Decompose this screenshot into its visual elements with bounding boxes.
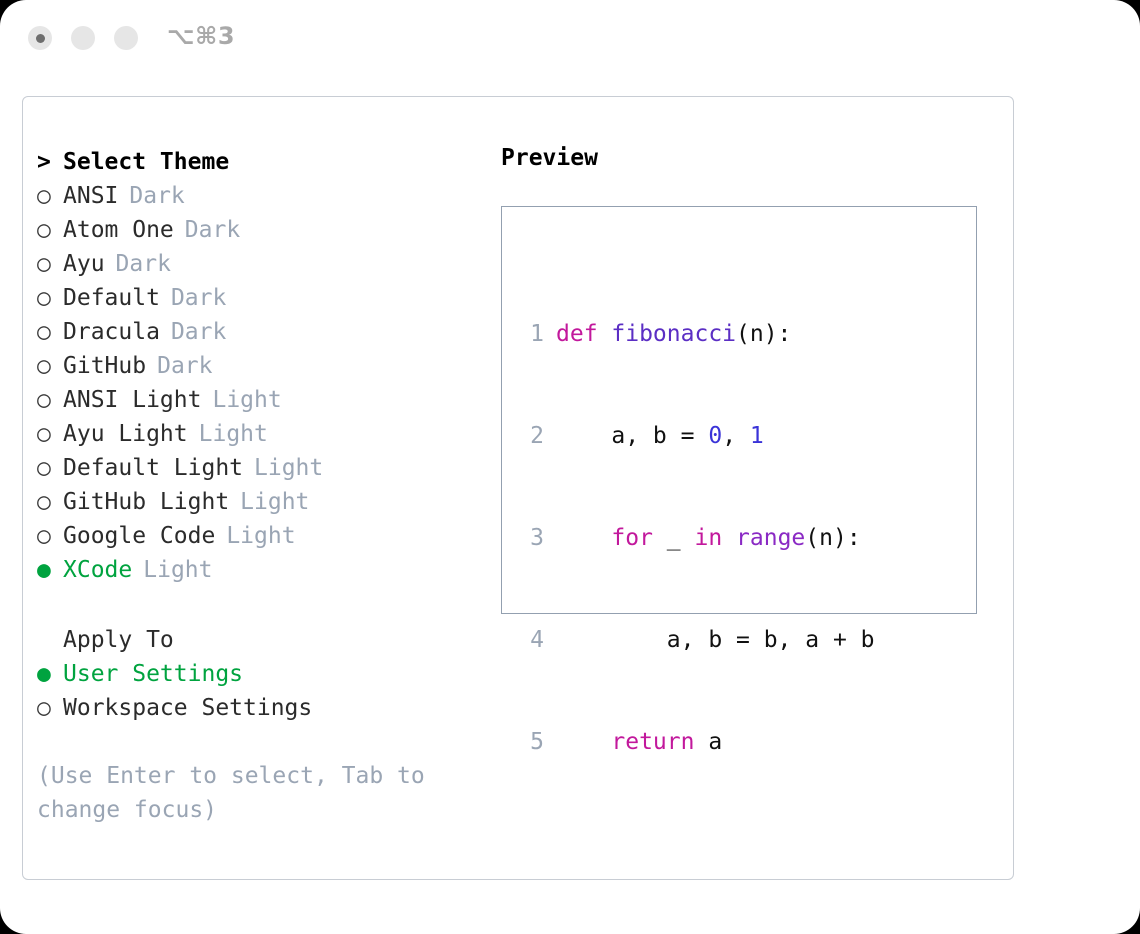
theme-item-atom-one-dark[interactable]: ○ Atom One Dark (37, 213, 487, 247)
theme-tag: Light (143, 557, 212, 583)
line-number: 5 (518, 725, 544, 759)
code-token: 0 (708, 423, 722, 449)
keyboard-hint-text: (Use Enter to select, Tab to change focu… (37, 759, 447, 827)
code-token: return (611, 729, 694, 755)
radio-icon[interactable]: ○ (37, 183, 63, 209)
theme-tag: Dark (185, 217, 240, 243)
theme-item-default-dark[interactable]: ○ Default Dark (37, 281, 487, 315)
keyboard-shortcut-label: ⌥⌘3 (167, 22, 235, 50)
radio-icon[interactable]: ○ (37, 523, 63, 549)
theme-tag: Light (240, 489, 309, 515)
code-line: 5 return a (518, 725, 902, 759)
apply-to-label: Apply To (63, 627, 174, 653)
code-token: for (611, 525, 653, 551)
code-token: (n): (736, 321, 791, 347)
line-number: 4 (518, 623, 544, 657)
theme-name: GitHub (63, 353, 146, 379)
line-number: 1 (518, 317, 544, 351)
apply-to-option-label: Workspace Settings (63, 695, 312, 721)
theme-name: Dracula (63, 319, 160, 345)
code-token: 1 (750, 423, 764, 449)
theme-item-google-code[interactable]: ○ Google Code Light (37, 519, 487, 553)
hint-spacer (37, 725, 487, 759)
code-token: def (556, 321, 611, 347)
code-token: a, b = (556, 423, 708, 449)
code-token: _ (653, 525, 695, 551)
code-line: 3 for _ in range(n): (518, 521, 902, 555)
apply-to-option-label: User Settings (63, 661, 243, 687)
theme-item-ansi-dark[interactable]: ○ ANSI Dark (37, 179, 487, 213)
list-spacer (37, 587, 487, 623)
theme-tag: Light (254, 455, 323, 481)
code-token: fibonacci (611, 321, 736, 347)
theme-tag: Light (226, 523, 295, 549)
apply-to-workspace-settings[interactable]: ○ Workspace Settings (37, 691, 487, 725)
theme-name: Ayu Light (63, 421, 188, 447)
app-window: ⌥⌘3 > Select Theme ○ ANSI Dark ○ Atom On… (0, 0, 1140, 934)
preview-title: Preview (501, 145, 1001, 171)
theme-name: Default Light (63, 455, 243, 481)
main-panel: > Select Theme ○ ANSI Dark ○ Atom One Da… (22, 96, 1014, 880)
select-theme-heading: > Select Theme (37, 145, 487, 179)
code-line: 1def fibonacci(n): (518, 317, 902, 351)
line-number: 3 (518, 521, 544, 555)
radio-icon[interactable]: ○ (37, 387, 63, 413)
window-dot-inner (36, 34, 45, 43)
radio-icon[interactable]: ○ (37, 251, 63, 277)
theme-item-ayu-dark[interactable]: ○ Ayu Dark (37, 247, 487, 281)
radio-icon[interactable]: ○ (37, 455, 63, 481)
preview-column: Preview 1def fibonacci(n): 2 a, b = 0, 1… (501, 145, 1001, 614)
radio-icon[interactable]: ○ (37, 489, 63, 515)
window-controls (28, 26, 138, 50)
theme-item-ayu-light[interactable]: ○ Ayu Light Light (37, 417, 487, 451)
code-token: a, b = b, a + b (556, 627, 875, 653)
theme-item-github-dark[interactable]: ○ GitHub Dark (37, 349, 487, 383)
code-token: a (694, 729, 722, 755)
select-theme-label: Select Theme (63, 149, 229, 175)
apply-to-heading: Apply To (37, 623, 487, 657)
theme-name: ANSI (63, 183, 118, 209)
theme-tag: Dark (116, 251, 171, 277)
code-token: , (722, 423, 750, 449)
window-dot-third-icon[interactable] (114, 26, 138, 50)
theme-tag: Dark (129, 183, 184, 209)
code-token: in (694, 525, 722, 551)
code-token (722, 525, 736, 551)
radio-selected-icon[interactable]: ● (37, 661, 63, 687)
preview-box: 1def fibonacci(n): 2 a, b = 0, 1 3 for _… (501, 206, 977, 614)
theme-name: ANSI Light (63, 387, 201, 413)
theme-tag: Light (212, 387, 281, 413)
theme-item-xcode-light[interactable]: ● XCode Light (37, 553, 487, 587)
radio-icon[interactable]: ○ (37, 353, 63, 379)
code-sample: 1def fibonacci(n): 2 a, b = 0, 1 3 for _… (518, 249, 902, 934)
code-token (556, 525, 611, 551)
caret-icon: > (37, 149, 63, 175)
theme-tag: Dark (157, 353, 212, 379)
theme-item-ansi-light[interactable]: ○ ANSI Light Light (37, 383, 487, 417)
theme-item-github-light[interactable]: ○ GitHub Light Light (37, 485, 487, 519)
theme-item-dracula-dark[interactable]: ○ Dracula Dark (37, 315, 487, 349)
code-token: range (736, 525, 805, 551)
code-line: 2 a, b = 0, 1 (518, 419, 902, 453)
theme-name: Atom One (63, 217, 174, 243)
window-dot-active-icon[interactable] (28, 26, 52, 50)
radio-icon[interactable]: ○ (37, 217, 63, 243)
theme-selector-column: > Select Theme ○ ANSI Dark ○ Atom One Da… (37, 145, 487, 827)
radio-icon[interactable]: ○ (37, 695, 63, 721)
theme-tag: Dark (171, 285, 226, 311)
theme-name: XCode (63, 557, 132, 583)
radio-icon[interactable]: ○ (37, 285, 63, 311)
theme-tag: Light (199, 421, 268, 447)
radio-selected-icon[interactable]: ● (37, 557, 63, 583)
code-line: 4 a, b = b, a + b (518, 623, 902, 657)
window-dot-second-icon[interactable] (71, 26, 95, 50)
theme-name: Ayu (63, 251, 105, 277)
theme-tag: Dark (171, 319, 226, 345)
apply-to-user-settings[interactable]: ● User Settings (37, 657, 487, 691)
radio-icon[interactable]: ○ (37, 319, 63, 345)
theme-name: Google Code (63, 523, 215, 549)
title-bar: ⌥⌘3 (0, 0, 1140, 78)
theme-name: Default (63, 285, 160, 311)
code-diff-gap (518, 861, 902, 895)
code-token (556, 729, 611, 755)
line-number: 2 (518, 419, 544, 453)
code-token: (n): (805, 525, 860, 551)
theme-item-default-light[interactable]: ○ Default Light Light (37, 451, 487, 485)
radio-icon[interactable]: ○ (37, 421, 63, 447)
theme-name: GitHub Light (63, 489, 229, 515)
